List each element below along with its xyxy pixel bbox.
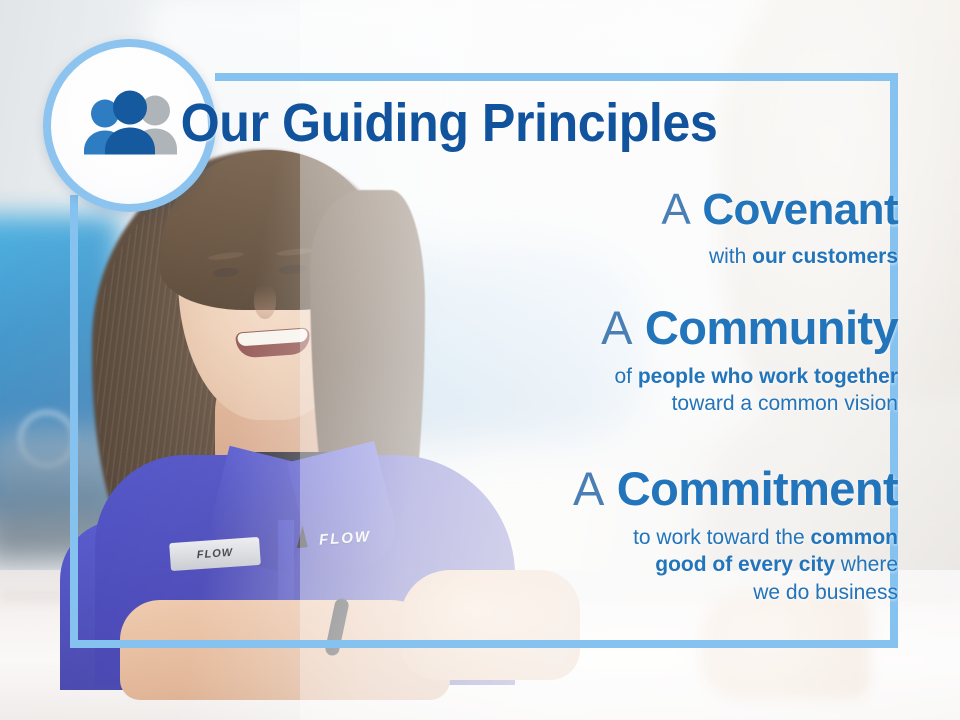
subtext-plain: toward a common vision: [672, 392, 898, 415]
principle-block-covenant: A Covenant with our customers: [238, 186, 898, 270]
subtext-emphasis: our customers: [752, 245, 898, 268]
subtext-plain: to work toward the: [633, 526, 810, 549]
subtext-plain: of: [614, 365, 637, 388]
principle-subtext-line: with our customers: [238, 243, 898, 271]
subtext-plain: with: [709, 245, 752, 268]
page-title: Our Guiding Principles: [31, 92, 866, 154]
principle-keyword: Commitment: [617, 462, 898, 515]
principle-headline: A Commitment: [178, 464, 898, 515]
guiding-principles-graphic: FLOW FLOW: [0, 0, 960, 720]
principle-subtext: of people who work togethertoward a comm…: [198, 363, 898, 418]
principle-headline: A Covenant: [238, 186, 898, 234]
principle-subtext-line: of people who work together: [198, 363, 898, 391]
principle-article: A: [661, 185, 690, 234]
subtext-plain: we do business: [753, 581, 898, 604]
principle-subtext-line: we do business: [178, 579, 898, 607]
subtext-emphasis: people who work together: [638, 365, 898, 388]
subtext-plain: where: [835, 553, 898, 576]
principle-article: A: [573, 462, 604, 515]
principle-subtext: to work toward the commongood of every c…: [178, 524, 898, 607]
principle-article: A: [601, 301, 632, 354]
principle-subtext-line: to work toward the common: [178, 524, 898, 552]
subtext-emphasis: good of every city: [655, 553, 835, 576]
principle-keyword: Covenant: [702, 185, 898, 234]
subtext-emphasis: common: [810, 526, 898, 549]
principle-subtext: with our customers: [238, 243, 898, 271]
principle-keyword: Community: [645, 301, 898, 354]
principle-headline: A Community: [198, 303, 898, 354]
principle-block-commitment: A Commitment to work toward the commongo…: [178, 464, 898, 607]
principle-subtext-line: good of every city where: [178, 551, 898, 579]
principle-subtext-line: toward a common vision: [198, 390, 898, 418]
principle-block-community: A Community of people who work togethert…: [198, 303, 898, 418]
